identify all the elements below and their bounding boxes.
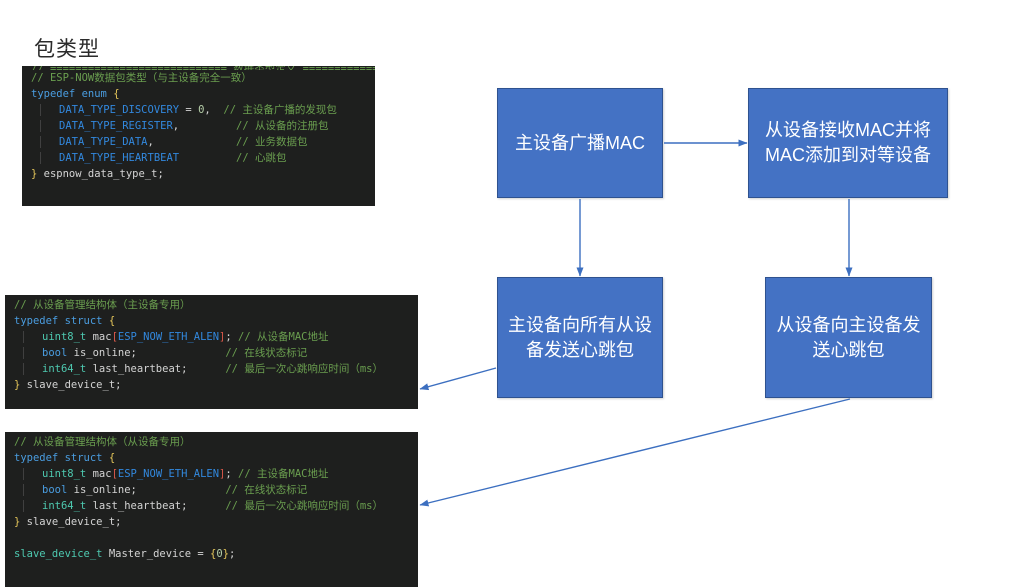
- code-token: typedef struct: [14, 315, 109, 327]
- code-token: uint8_t: [42, 468, 86, 480]
- code-token: espnow_data_type_t: [37, 168, 157, 180]
- code-token: ;: [225, 468, 238, 480]
- code-token: ;: [131, 347, 226, 359]
- code-line: typedef enum {: [22, 86, 375, 102]
- code-block-packet-type-enum: // ============================ 数据类型定义 =…: [22, 66, 375, 206]
- code-token: is_online: [67, 347, 130, 359]
- code-token: ;: [115, 516, 121, 528]
- page-title: 包类型: [34, 36, 100, 64]
- code-line: int64_t last_heartbeat; // 最后一次心跳响应时间（ms…: [5, 361, 418, 377]
- code-line: uint8_t mac[ESP_NOW_ETH_ALEN]; // 从设备MAC…: [5, 329, 418, 345]
- code-token: // 主设备MAC地址: [238, 468, 328, 480]
- code-line: int64_t last_heartbeat; // 最后一次心跳响应时间（ms…: [5, 498, 418, 514]
- code-line: DATA_TYPE_HEARTBEAT // 心跳包: [22, 150, 375, 166]
- code-token: // 在线状态标记: [225, 347, 307, 359]
- code-token: ,: [173, 120, 236, 132]
- code-token: ,: [148, 136, 237, 148]
- code-token: [179, 152, 236, 164]
- code-token: DATA_TYPE_DATA: [59, 136, 148, 148]
- code-token: ;: [181, 500, 225, 512]
- code-line: typedef struct {: [5, 450, 418, 466]
- code-token: // 从设备管理结构体（主设备专用）: [14, 299, 190, 311]
- code-indent-guide: uint8_t mac[ESP_NOW_ETH_ALEN]; // 主设备MAC…: [23, 468, 328, 480]
- connector-slave-heartbeat-to-slave-struct: [420, 399, 850, 505]
- code-line: // 从设备管理结构体（主设备专用）: [5, 297, 418, 313]
- code-token: {: [109, 452, 115, 464]
- code-token: typedef struct: [14, 452, 109, 464]
- flow-box-master-broadcast-mac[interactable]: 主设备广播MAC: [497, 88, 663, 198]
- code-line: // ESP-NOW数据包类型（与主设备完全一致）: [22, 70, 375, 86]
- code-indent-guide: DATA_TYPE_DISCOVERY = 0, // 主设备广播的发现包: [40, 104, 337, 116]
- code-token: int64_t: [42, 363, 86, 375]
- connector-master-heartbeat-to-master-struct: [420, 368, 496, 389]
- code-indent-guide: bool is_online; // 在线状态标记: [23, 347, 307, 359]
- code-token: ,: [204, 104, 223, 116]
- code-token: // ESP-NOW数据包类型（与主设备完全一致）: [31, 72, 252, 84]
- code-token: ;: [131, 484, 226, 496]
- code-indent-guide: bool is_online; // 在线状态标记: [23, 484, 307, 496]
- code-token: mac: [86, 468, 111, 480]
- code-token: [14, 532, 20, 544]
- code-line: [5, 530, 418, 546]
- code-token: typedef enum: [31, 88, 113, 100]
- code-token: DATA_TYPE_REGISTER: [59, 120, 173, 132]
- code-token: Master_device: [103, 548, 192, 560]
- code-token: ;: [181, 363, 225, 375]
- code-line: } slave_device_t;: [5, 377, 418, 393]
- code-indent-guide: uint8_t mac[ESP_NOW_ETH_ALEN]; // 从设备MAC…: [23, 331, 328, 343]
- code-token: // 从设备的注册包: [236, 120, 328, 132]
- code-token: // 在线状态标记: [225, 484, 307, 496]
- code-indent-guide: DATA_TYPE_REGISTER, // 从设备的注册包: [40, 120, 328, 132]
- code-token: DATA_TYPE_DISCOVERY: [59, 104, 179, 116]
- code-token: // 业务数据包: [236, 136, 307, 148]
- code-indent-guide: int64_t last_heartbeat; // 最后一次心跳响应时间（ms…: [23, 500, 383, 512]
- code-block-slave-struct-slave: // 从设备管理结构体（从设备专用）typedef struct {uint8_…: [5, 432, 418, 587]
- flow-box-slave-receive-mac[interactable]: 从设备接收MAC并将MAC添加到对等设备: [748, 88, 948, 198]
- code-line: typedef struct {: [5, 313, 418, 329]
- slide-canvas: 包类型 // ============================ 数据类型…: [0, 0, 1024, 587]
- code-token: ESP_NOW_ETH_ALEN: [118, 468, 219, 480]
- code-token: slave_device_t: [20, 379, 115, 391]
- flow-box-master-send-heartbeat[interactable]: 主设备向所有从设备发送心跳包: [497, 277, 663, 398]
- code-token: ;: [229, 548, 235, 560]
- code-line: slave_device_t Master_device = {0};: [5, 546, 418, 562]
- code-token: bool: [42, 347, 67, 359]
- code-line: } slave_device_t;: [5, 514, 418, 530]
- code-line: DATA_TYPE_DISCOVERY = 0, // 主设备广播的发现包: [22, 102, 375, 118]
- code-line: bool is_online; // 在线状态标记: [5, 345, 418, 361]
- code-token: ;: [157, 168, 163, 180]
- code-token: uint8_t: [42, 331, 86, 343]
- code-line: DATA_TYPE_REGISTER, // 从设备的注册包: [22, 118, 375, 134]
- code-token: int64_t: [42, 500, 86, 512]
- flow-box-label: 主设备向所有从设备发送心跳包: [505, 313, 655, 363]
- code-token: // 从设备管理结构体（从设备专用）: [14, 436, 190, 448]
- code-block-slave-struct-master: // 从设备管理结构体（主设备专用）typedef struct {uint8_…: [5, 295, 418, 409]
- code-line: bool is_online; // 在线状态标记: [5, 482, 418, 498]
- code-token: mac: [86, 331, 111, 343]
- code-token: last_heartbeat: [86, 363, 181, 375]
- code-token: // 最后一次心跳响应时间（ms）: [225, 500, 383, 512]
- code-token: // 主设备广播的发现包: [223, 104, 336, 116]
- code-token: // 心跳包: [236, 152, 286, 164]
- code-token: ;: [225, 331, 238, 343]
- code-token: // 最后一次心跳响应时间（ms）: [225, 363, 383, 375]
- code-token: bool: [42, 484, 67, 496]
- code-token: ESP_NOW_ETH_ALEN: [118, 331, 219, 343]
- code-line: DATA_TYPE_DATA, // 业务数据包: [22, 134, 375, 150]
- flow-box-label: 从设备接收MAC并将MAC添加到对等设备: [756, 118, 940, 168]
- code-line: } espnow_data_type_t;: [22, 166, 375, 182]
- code-token: is_online: [67, 484, 130, 496]
- code-token: slave_device_t: [20, 516, 115, 528]
- code-indent-guide: DATA_TYPE_HEARTBEAT // 心跳包: [40, 152, 286, 164]
- code-indent-guide: int64_t last_heartbeat; // 最后一次心跳响应时间（ms…: [23, 363, 383, 375]
- code-token: slave_device_t: [14, 548, 103, 560]
- code-token: DATA_TYPE_HEARTBEAT: [59, 152, 179, 164]
- code-token: =: [191, 548, 210, 560]
- flow-box-label: 从设备向主设备发送心跳包: [773, 313, 924, 363]
- code-token: ;: [115, 379, 121, 391]
- code-indent-guide: DATA_TYPE_DATA, // 业务数据包: [40, 136, 308, 148]
- code-token: last_heartbeat: [86, 500, 181, 512]
- code-token: {: [109, 315, 115, 327]
- code-token: // 从设备MAC地址: [238, 331, 328, 343]
- code-line: uint8_t mac[ESP_NOW_ETH_ALEN]; // 主设备MAC…: [5, 466, 418, 482]
- code-line: // 从设备管理结构体（从设备专用）: [5, 434, 418, 450]
- flow-box-label: 主设备广播MAC: [515, 131, 645, 156]
- code-token: {: [113, 88, 119, 100]
- flow-box-slave-send-heartbeat[interactable]: 从设备向主设备发送心跳包: [765, 277, 932, 398]
- code-token: =: [179, 104, 198, 116]
